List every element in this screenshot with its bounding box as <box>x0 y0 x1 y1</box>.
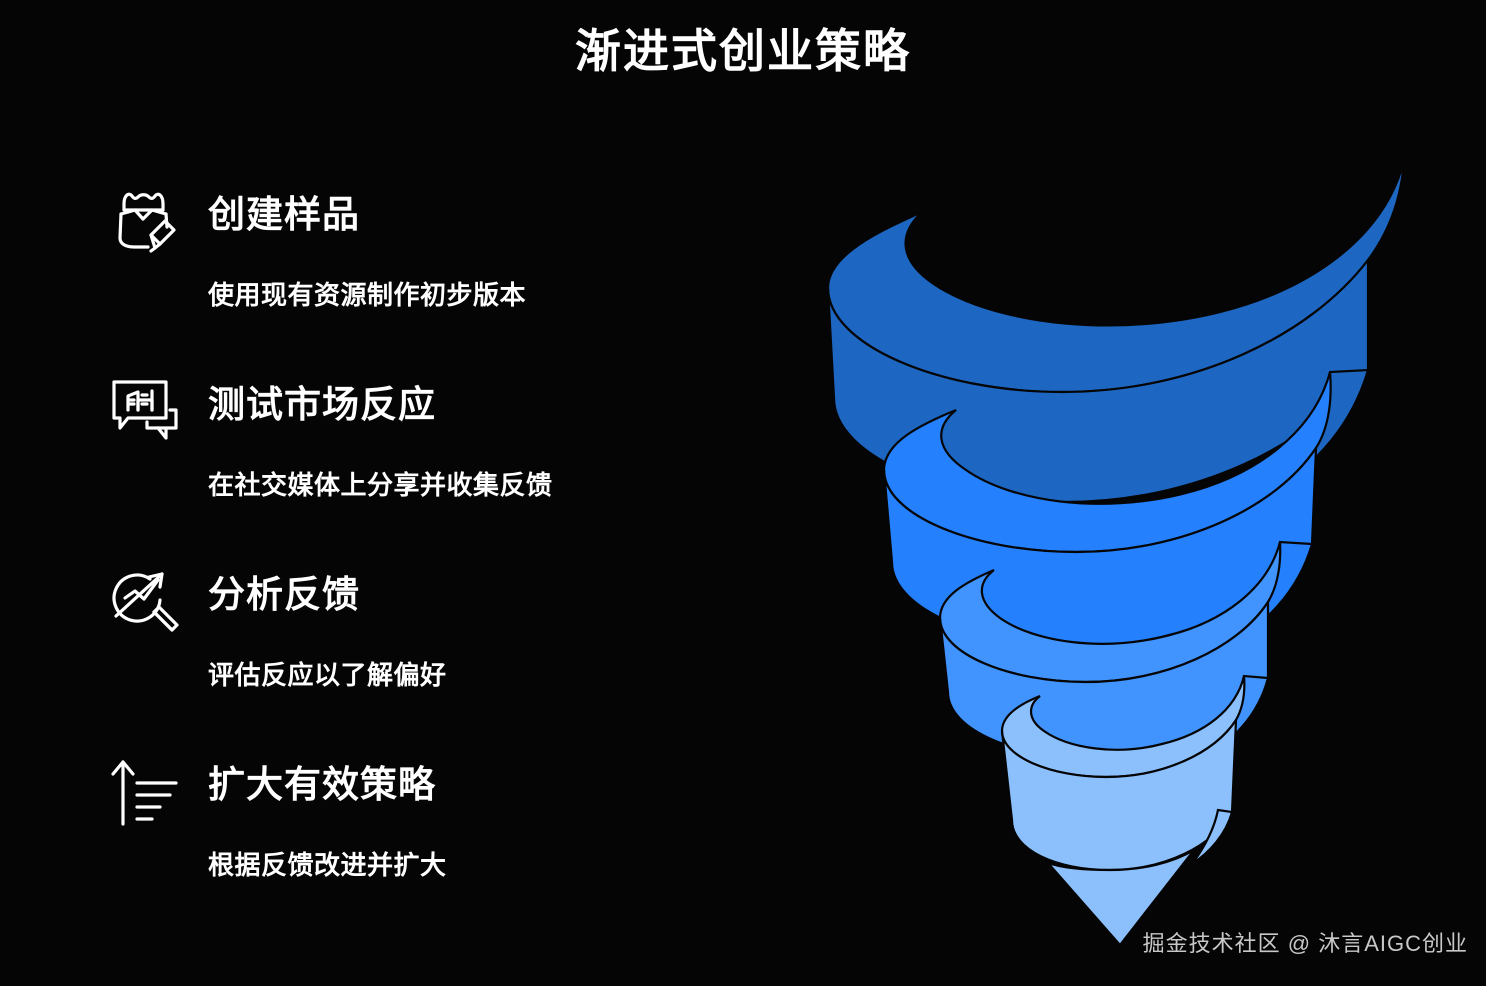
prototype-pencil-icon <box>104 180 188 264</box>
step-title: 测试市场反应 <box>208 384 436 427</box>
step-description: 评估反应以了解偏好 <box>208 660 447 691</box>
watermark: 掘金技术社区 @ 沐言AIGC创业 <box>1143 926 1468 958</box>
step-item: 分析反馈 评估反应以了解偏好 <box>98 556 738 746</box>
step-title: 创建样品 <box>208 194 360 237</box>
chat-bubbles-chart-icon <box>104 370 188 454</box>
step-item: 扩大有效策略 根据反馈改进并扩大 <box>98 746 738 936</box>
step-item: 创建样品 使用现有资源制作初步版本 <box>98 176 738 366</box>
step-description: 在社交媒体上分享并收集反馈 <box>208 470 553 501</box>
step-description: 使用现有资源制作初步版本 <box>208 280 526 311</box>
slide-canvas: 渐进式创业策略 创建样品 使用现有资源制作初步版本 <box>0 0 1486 986</box>
steps-list: 创建样品 使用现有资源制作初步版本 测试市场反应 <box>98 176 738 936</box>
step-title: 分析反馈 <box>208 574 360 617</box>
step-item: 测试市场反应 在社交媒体上分享并收集反馈 <box>98 366 738 556</box>
step-title: 扩大有效策略 <box>208 764 436 807</box>
step-description: 根据反馈改进并扩大 <box>208 850 447 881</box>
page-title: 渐进式创业策略 <box>0 24 1486 79</box>
scale-up-arrow-bars-icon <box>104 750 188 834</box>
magnifier-trend-icon <box>104 560 188 644</box>
spiral-funnel-graphic <box>790 140 1470 970</box>
